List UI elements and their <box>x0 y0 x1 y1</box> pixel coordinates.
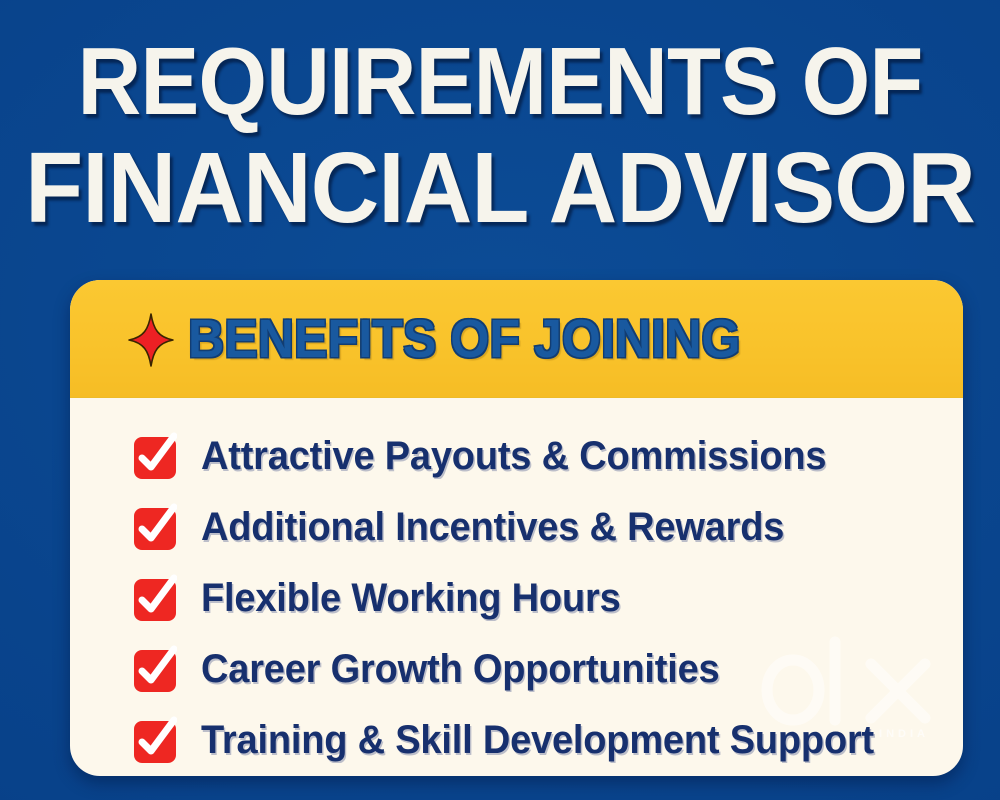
headline-line-1: REQUIREMENTS OF <box>40 34 960 130</box>
benefits-banner-title: BENEFITS OF JOINING <box>188 311 740 367</box>
list-item: Additional Incentives & Rewards <box>133 491 963 562</box>
headline-line-2: FINANCIAL ADVISOR <box>25 138 975 238</box>
benefits-card: BENEFITS OF JOINING Attractive Payouts &… <box>70 280 963 776</box>
list-item: Flexible Working Hours <box>133 562 963 633</box>
benefits-list: Attractive Payouts & Commissions Additio… <box>70 398 963 775</box>
benefits-banner: BENEFITS OF JOINING <box>70 280 963 398</box>
checkbox-checked-icon <box>133 574 177 622</box>
list-item: Career Growth Opportunities <box>133 633 963 704</box>
benefit-label: Career Growth Opportunities <box>201 647 719 691</box>
checkbox-checked-icon <box>133 432 177 480</box>
checkbox-checked-icon <box>133 503 177 551</box>
benefit-label: Training & Skill Development Support <box>201 718 874 762</box>
checkbox-checked-icon <box>133 645 177 693</box>
list-item: Attractive Payouts & Commissions <box>133 420 963 491</box>
benefit-label: Additional Incentives & Rewards <box>201 505 784 549</box>
benefit-label: Attractive Payouts & Commissions <box>201 434 826 478</box>
list-item: Training & Skill Development Support <box>133 704 963 775</box>
benefit-label: Flexible Working Hours <box>201 576 621 620</box>
page-title: REQUIREMENTS OF FINANCIAL ADVISOR <box>0 34 1000 238</box>
checkbox-checked-icon <box>133 716 177 764</box>
sparkle-icon <box>128 313 174 367</box>
poster-canvas: REQUIREMENTS OF FINANCIAL ADVISOR BENEFI… <box>0 0 1000 800</box>
